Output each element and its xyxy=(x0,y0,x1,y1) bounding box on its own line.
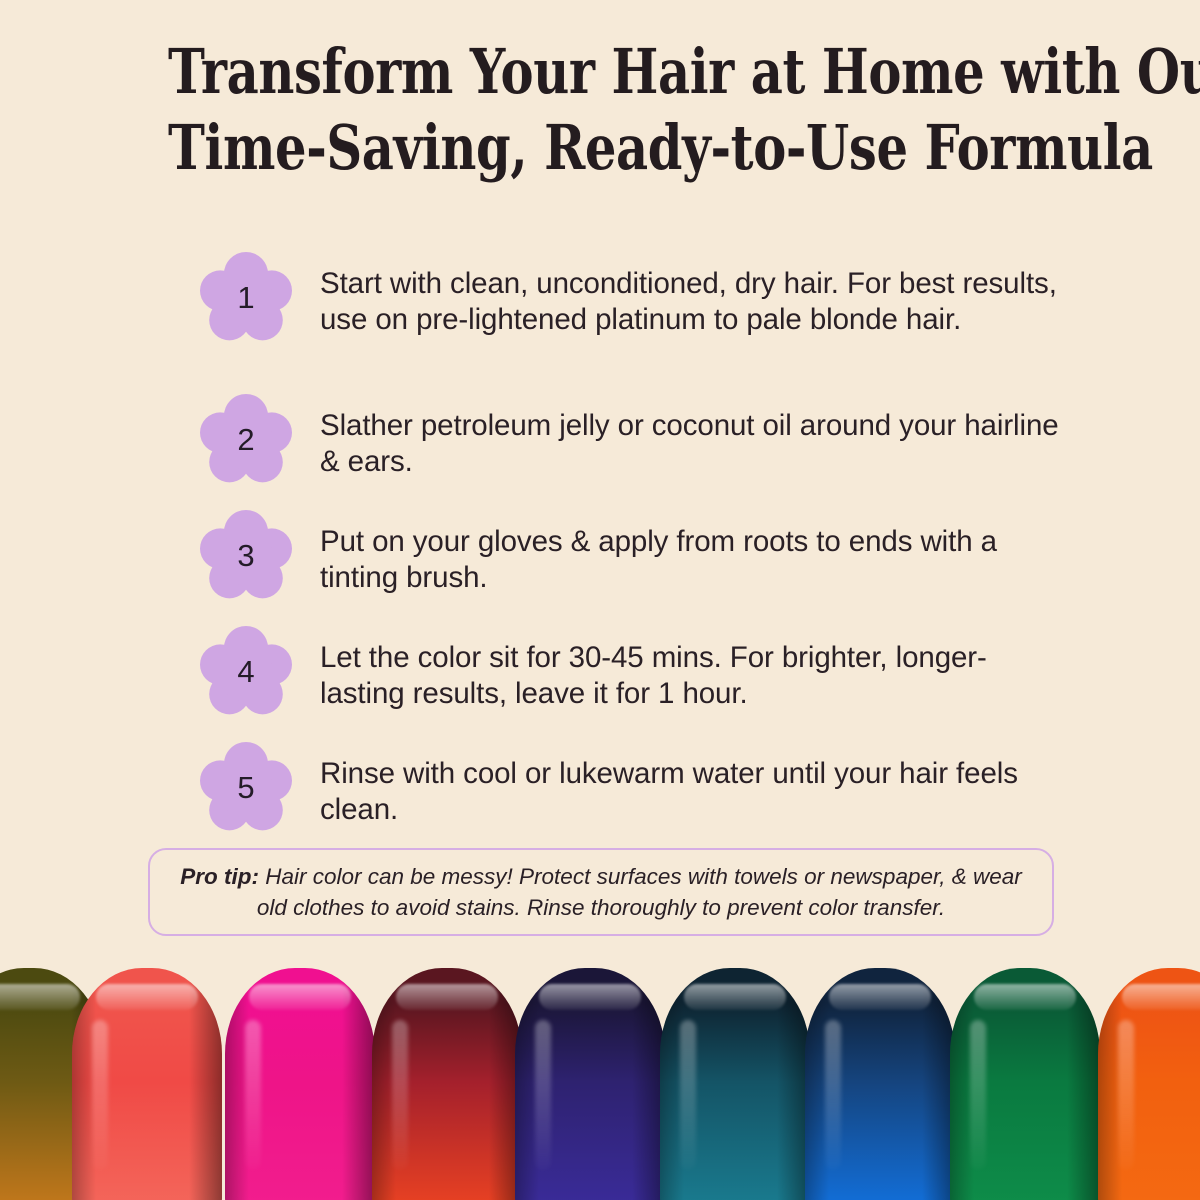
bottle-highlight xyxy=(1122,984,1200,1010)
step-text: Let the color sit for 30-45 mins. For br… xyxy=(320,626,1060,712)
coral-red-bottle xyxy=(72,968,222,1200)
pro-tip-body: Hair color can be messy! Protect surface… xyxy=(257,864,1022,920)
step-badge-4: 4 xyxy=(200,626,292,718)
teal-blue-bottle xyxy=(660,968,810,1200)
title-line-1: Transform Your Hair at Home with Our xyxy=(168,34,1032,110)
magenta-pink-bottle xyxy=(225,968,375,1200)
product-bottles-strip xyxy=(0,950,1200,1200)
instruction-poster: Transform Your Hair at Home with Our Tim… xyxy=(0,0,1200,1200)
indigo-violet-bottle xyxy=(515,968,665,1200)
step-badge-3: 3 xyxy=(200,510,292,602)
step-text: Rinse with cool or lukewarm water until … xyxy=(320,742,1060,828)
bottle-side-highlight xyxy=(1118,1020,1134,1170)
bottle-highlight xyxy=(0,984,80,1010)
bottle-side-highlight xyxy=(970,1020,986,1170)
step-badge-5: 5 xyxy=(200,742,292,834)
step-badge-1: 1 xyxy=(200,252,292,344)
pro-tip-callout: Pro tip: Hair color can be messy! Protec… xyxy=(148,848,1054,936)
orange-bottle xyxy=(1098,968,1200,1200)
bottle-side-highlight xyxy=(245,1020,261,1170)
burgundy-red-bottle xyxy=(372,968,522,1200)
green-emerald-bottle xyxy=(950,968,1100,1200)
pro-tip-label: Pro tip: xyxy=(180,864,259,889)
step-number: 1 xyxy=(200,252,292,344)
list-item: 5 Rinse with cool or lukewarm water unti… xyxy=(200,742,1060,834)
bottle-side-highlight xyxy=(392,1020,408,1170)
bottle-highlight xyxy=(974,984,1076,1010)
list-item: 3 Put on your gloves & apply from roots … xyxy=(200,510,1060,602)
royal-blue-bottle xyxy=(805,968,955,1200)
bottle-highlight xyxy=(829,984,931,1010)
step-text: Put on your gloves & apply from roots to… xyxy=(320,510,1060,596)
bottle-highlight xyxy=(684,984,786,1010)
step-badge-2: 2 xyxy=(200,394,292,486)
bottle-highlight xyxy=(396,984,498,1010)
step-number: 5 xyxy=(200,742,292,834)
step-number: 3 xyxy=(200,510,292,602)
bottle-side-highlight xyxy=(92,1020,108,1170)
list-item: 2 Slather petroleum jelly or coconut oil… xyxy=(200,394,1060,486)
bottle-side-highlight xyxy=(535,1020,551,1170)
bottle-highlight xyxy=(96,984,198,1010)
step-number: 4 xyxy=(200,626,292,718)
step-number: 2 xyxy=(200,394,292,486)
bottle-side-highlight xyxy=(680,1020,696,1170)
list-item: 1 Start with clean, unconditioned, dry h… xyxy=(200,252,1060,374)
bottle-highlight xyxy=(249,984,351,1010)
bottle-side-highlight xyxy=(825,1020,841,1170)
step-text: Slather petroleum jelly or coconut oil a… xyxy=(320,394,1060,480)
steps-list: 1 Start with clean, unconditioned, dry h… xyxy=(200,252,1060,834)
pro-tip-text: Pro tip: Hair color can be messy! Protec… xyxy=(174,861,1028,923)
title-line-2: Time-Saving, Ready-to-Use Formula xyxy=(168,110,1032,186)
list-item: 4 Let the color sit for 30-45 mins. For … xyxy=(200,626,1060,718)
bottle-highlight xyxy=(539,984,641,1010)
step-text: Start with clean, unconditioned, dry hai… xyxy=(320,252,1060,338)
page-title: Transform Your Hair at Home with Our Tim… xyxy=(60,34,1140,186)
